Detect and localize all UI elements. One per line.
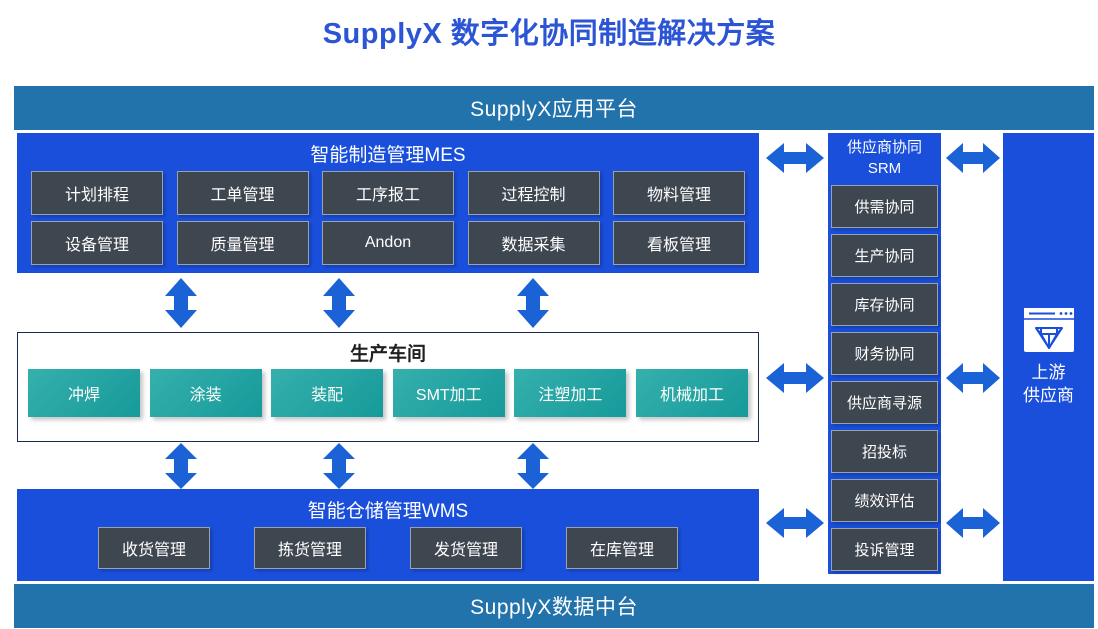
double-headed-arrow-icon bbox=[946, 506, 1000, 540]
mes-tile[interactable]: 物料管理 bbox=[613, 171, 745, 215]
mes-tile[interactable]: 过程控制 bbox=[468, 171, 600, 215]
mes-row-2: 设备管理 质量管理 Andon 数据采集 看板管理 bbox=[17, 221, 759, 265]
srm-items: 供需协同 生产协同 库存协同 财务协同 供应商寻源 招投标 绩效评估 投诉管理 bbox=[828, 183, 941, 574]
mes-block: 智能制造管理MES 计划排程 工单管理 工序报工 过程控制 物料管理 设备管理 … bbox=[17, 133, 759, 273]
upstream-supplier-line1: 上游 bbox=[1023, 361, 1074, 384]
workshop-tiles: 冲焊 涂装 装配 SMT加工 注塑加工 机械加工 bbox=[18, 369, 758, 417]
mes-tile[interactable]: 工单管理 bbox=[177, 171, 309, 215]
data-platform-band: SupplyX数据中台 bbox=[14, 584, 1094, 628]
solution-diagram: SupplyX应用平台 智能制造管理MES 计划排程 工单管理 工序报工 过程控… bbox=[14, 86, 1094, 628]
double-headed-arrow-icon bbox=[514, 443, 552, 489]
srm-header-line1: 供应商协同 bbox=[828, 137, 941, 158]
srm-header-line2: SRM bbox=[828, 158, 941, 179]
srm-tile[interactable]: 供应商寻源 bbox=[831, 381, 938, 424]
workshop-tile[interactable]: SMT加工 bbox=[393, 369, 505, 417]
double-headed-arrow-icon bbox=[162, 443, 200, 489]
mes-row-1: 计划排程 工单管理 工序报工 过程控制 物料管理 bbox=[17, 171, 759, 215]
page-title: SupplyX 数字化协同制造解决方案 bbox=[0, 0, 1098, 66]
wms-tile[interactable]: 在库管理 bbox=[566, 527, 678, 569]
srm-tile[interactable]: 财务协同 bbox=[831, 332, 938, 375]
srm-header: 供应商协同 SRM bbox=[828, 133, 941, 183]
double-headed-arrow-icon bbox=[766, 361, 824, 395]
double-headed-arrow-icon bbox=[946, 361, 1000, 395]
mes-title: 智能制造管理MES bbox=[17, 133, 759, 165]
wms-block: 智能仓储管理WMS 收货管理 拣货管理 发货管理 在库管理 bbox=[17, 489, 759, 581]
double-headed-arrow-icon bbox=[514, 278, 552, 328]
wms-tile[interactable]: 发货管理 bbox=[410, 527, 522, 569]
diamond-window-icon bbox=[1023, 307, 1075, 353]
mes-tile[interactable]: Andon bbox=[322, 221, 454, 265]
wms-tile[interactable]: 拣货管理 bbox=[254, 527, 366, 569]
double-headed-arrow-icon bbox=[766, 506, 824, 540]
wms-title: 智能仓储管理WMS bbox=[17, 489, 759, 521]
workshop-title: 生产车间 bbox=[18, 333, 758, 365]
upstream-supplier-column: 上游 供应商 bbox=[1003, 133, 1094, 581]
mes-tile[interactable]: 看板管理 bbox=[613, 221, 745, 265]
mes-tile[interactable]: 工序报工 bbox=[322, 171, 454, 215]
application-platform-label: SupplyX应用平台 bbox=[470, 93, 638, 123]
application-platform-band: SupplyX应用平台 bbox=[14, 86, 1094, 130]
mes-tile[interactable]: 质量管理 bbox=[177, 221, 309, 265]
srm-tile[interactable]: 供需协同 bbox=[831, 185, 938, 228]
mes-tile[interactable]: 设备管理 bbox=[31, 221, 163, 265]
wms-tiles: 收货管理 拣货管理 发货管理 在库管理 bbox=[17, 527, 759, 569]
upstream-supplier-line2: 供应商 bbox=[1023, 384, 1074, 407]
upstream-supplier-label: 上游 供应商 bbox=[1023, 361, 1074, 407]
srm-tile[interactable]: 投诉管理 bbox=[831, 528, 938, 571]
workshop-tile[interactable]: 涂装 bbox=[150, 369, 262, 417]
double-headed-arrow-icon bbox=[320, 443, 358, 489]
double-headed-arrow-icon bbox=[162, 278, 200, 328]
srm-column: 供应商协同 SRM 供需协同 生产协同 库存协同 财务协同 供应商寻源 招投标 … bbox=[828, 133, 941, 581]
workshop-tile[interactable]: 机械加工 bbox=[636, 369, 748, 417]
workshop-tile[interactable]: 注塑加工 bbox=[514, 369, 626, 417]
srm-tile[interactable]: 库存协同 bbox=[831, 283, 938, 326]
workshop-tile[interactable]: 冲焊 bbox=[28, 369, 140, 417]
srm-tile[interactable]: 绩效评估 bbox=[831, 479, 938, 522]
double-headed-arrow-icon bbox=[766, 141, 824, 175]
double-headed-arrow-icon bbox=[946, 141, 1000, 175]
workshop-tile[interactable]: 装配 bbox=[271, 369, 383, 417]
data-platform-label: SupplyX数据中台 bbox=[470, 591, 638, 621]
mes-tile[interactable]: 计划排程 bbox=[31, 171, 163, 215]
double-headed-arrow-icon bbox=[320, 278, 358, 328]
wms-tile[interactable]: 收货管理 bbox=[98, 527, 210, 569]
workshop-block: 生产车间 冲焊 涂装 装配 SMT加工 注塑加工 机械加工 bbox=[17, 332, 759, 442]
mes-tile[interactable]: 数据采集 bbox=[468, 221, 600, 265]
srm-tile[interactable]: 招投标 bbox=[831, 430, 938, 473]
srm-tile[interactable]: 生产协同 bbox=[831, 234, 938, 277]
